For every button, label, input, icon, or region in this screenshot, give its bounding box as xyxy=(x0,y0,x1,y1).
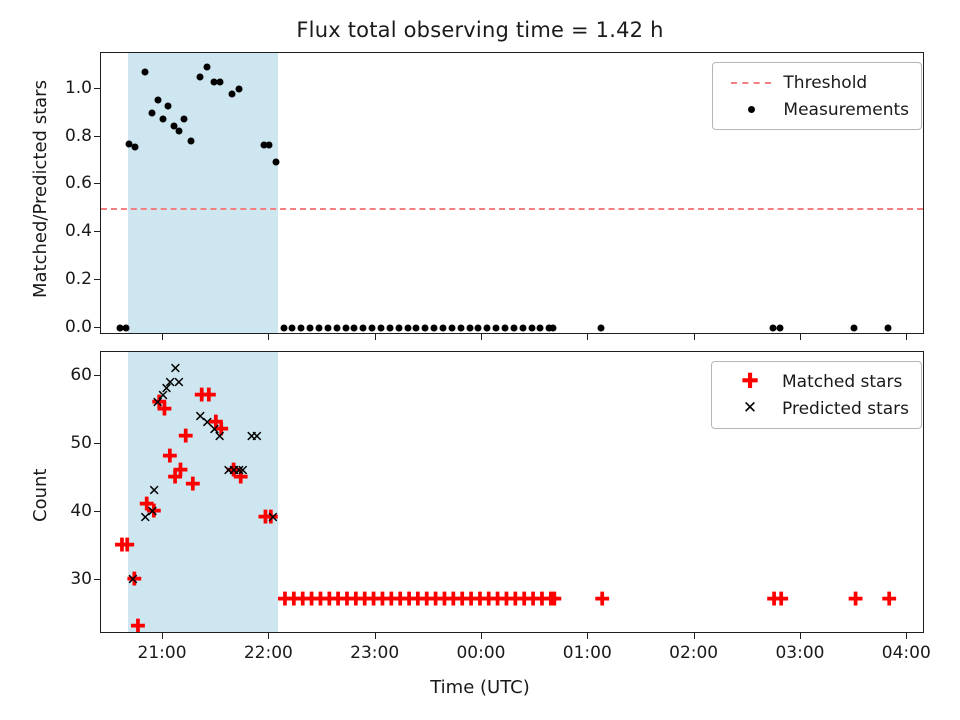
x-marker-icon: ✕ xyxy=(724,400,776,417)
measurement-point xyxy=(377,324,384,331)
measurement-point xyxy=(165,102,172,109)
measurement-point xyxy=(769,324,776,331)
x-axis-tick-label: 00:00 xyxy=(436,643,526,663)
x-axis-tick-label: 01:00 xyxy=(542,643,632,663)
legend-label: Matched stars xyxy=(776,372,902,392)
x-axis-tick-label: 21:00 xyxy=(117,643,207,663)
matched-star-point: ✚ xyxy=(773,594,786,607)
x-axis-tick-mark xyxy=(800,633,801,639)
measurement-point xyxy=(229,90,236,97)
x-axis-tick-mark xyxy=(587,334,588,340)
x-axis-tick-mark xyxy=(800,334,801,340)
matched-star-point: ✚ xyxy=(119,539,132,552)
measurement-point xyxy=(484,324,491,331)
measurement-point xyxy=(280,324,287,331)
y-axis-tick-mark xyxy=(94,88,100,89)
y-axis-tick-mark xyxy=(94,443,100,444)
predicted-star-point: ✕ xyxy=(266,512,279,525)
measurement-point xyxy=(266,142,273,149)
x-axis-tick-mark xyxy=(268,334,269,340)
measurement-point xyxy=(413,324,420,331)
measurement-point xyxy=(851,324,858,331)
dot-icon xyxy=(725,106,777,113)
measurement-point xyxy=(315,324,322,331)
measurement-point xyxy=(188,138,195,145)
legend-entry: Measurements xyxy=(725,96,909,123)
measurement-point xyxy=(160,115,167,122)
predicted-star-point: ✕ xyxy=(213,430,226,443)
x-axis-tick-mark xyxy=(481,334,482,340)
measurement-point xyxy=(549,324,556,331)
predicted-star-point: ✕ xyxy=(250,430,263,443)
predicted-star-point: ✕ xyxy=(126,573,139,586)
x-axis-tick-mark xyxy=(694,633,695,639)
legend-entry: ✕Predicted stars xyxy=(724,395,909,422)
measurement-point xyxy=(884,324,891,331)
x-axis-tick-mark xyxy=(481,633,482,639)
measurement-point xyxy=(175,127,182,134)
x-axis-tick-label: 22:00 xyxy=(223,643,313,663)
bottom-panel-ylabel: Count xyxy=(30,469,51,522)
legend-label: Measurements xyxy=(777,100,909,120)
measurement-point xyxy=(386,324,393,331)
measurement-point xyxy=(395,324,402,331)
x-axis-tick-mark xyxy=(375,334,376,340)
legend-label: Threshold xyxy=(777,73,867,93)
legend-entry: Threshold xyxy=(725,69,909,96)
y-axis-tick-label: 0.0 xyxy=(34,317,92,337)
y-axis-tick-mark xyxy=(94,579,100,580)
x-axis-tick-label: 04:00 xyxy=(861,643,951,663)
predicted-star-point: ✕ xyxy=(236,464,249,477)
measurement-point xyxy=(307,324,314,331)
x-axis-tick-mark xyxy=(694,334,695,340)
matched-star-point: ✚ xyxy=(172,464,185,477)
matched-star-point: ✚ xyxy=(594,594,607,607)
measurement-point xyxy=(440,324,447,331)
measurement-point xyxy=(502,324,509,331)
measurement-point xyxy=(342,324,349,331)
y-axis-tick-mark xyxy=(94,511,100,512)
measurement-point xyxy=(273,158,280,165)
measurement-point xyxy=(466,324,473,331)
measurement-point xyxy=(537,324,544,331)
measurement-point xyxy=(154,96,161,103)
predicted-star-point: ✕ xyxy=(148,485,161,498)
bottom-panel-legend: ✚Matched stars✕Predicted stars xyxy=(711,361,922,429)
x-axis-tick-label: 03:00 xyxy=(755,643,845,663)
measurement-point xyxy=(475,324,482,331)
y-axis-tick-mark xyxy=(94,136,100,137)
y-axis-tick-mark xyxy=(94,375,100,376)
measurement-point xyxy=(404,324,411,331)
measurement-point xyxy=(149,109,156,116)
measurement-point xyxy=(597,324,604,331)
y-axis-tick-label: 50 xyxy=(34,433,92,453)
x-axis-tick-mark xyxy=(162,334,163,340)
matched-star-point: ✚ xyxy=(185,478,198,491)
measurement-point xyxy=(493,324,500,331)
x-axis-tick-mark xyxy=(268,633,269,639)
measurement-point xyxy=(197,73,204,80)
top-panel-legend: ThresholdMeasurements xyxy=(712,62,922,130)
measurement-point xyxy=(422,324,429,331)
matched-star-point: ✚ xyxy=(848,594,861,607)
predicted-star-point: ✕ xyxy=(146,505,159,518)
measurement-point xyxy=(204,64,211,71)
matched-star-point: ✚ xyxy=(201,390,214,403)
y-axis-tick-mark xyxy=(94,183,100,184)
matched-star-point: ✚ xyxy=(881,594,894,607)
matched-star-point: ✚ xyxy=(130,621,143,633)
top-panel-ylabel: Matched/Predicted stars xyxy=(30,80,51,298)
measurement-point xyxy=(236,85,243,92)
plus-marker-icon: ✚ xyxy=(724,371,776,392)
measurement-point xyxy=(181,115,188,122)
x-axis-tick-mark xyxy=(906,633,907,639)
y-axis-tick-mark xyxy=(94,327,100,328)
threshold-dash-icon xyxy=(725,82,777,84)
measurement-point xyxy=(457,324,464,331)
measurement-point xyxy=(360,324,367,331)
legend-label: Predicted stars xyxy=(776,399,909,419)
measurement-point xyxy=(369,324,376,331)
matched-star-point: ✚ xyxy=(178,430,191,443)
measurement-point xyxy=(776,324,783,331)
measurement-point xyxy=(528,324,535,331)
measurement-point xyxy=(519,324,526,331)
figure-canvas: Flux total observing time = 1.42 h 0.00.… xyxy=(0,0,960,720)
measurement-point xyxy=(448,324,455,331)
measurement-point xyxy=(289,324,296,331)
y-axis-tick-label: 60 xyxy=(34,365,92,385)
y-axis-tick-label: 30 xyxy=(34,569,92,589)
measurement-point xyxy=(216,78,223,85)
x-axis-label: Time (UTC) xyxy=(0,677,960,698)
observing-window-band xyxy=(128,53,279,333)
predicted-star-point: ✕ xyxy=(172,376,185,389)
x-axis-tick-label: 23:00 xyxy=(330,643,420,663)
measurement-point xyxy=(142,69,149,76)
measurement-point xyxy=(298,324,305,331)
measurement-point xyxy=(351,324,358,331)
x-axis-tick-label: 02:00 xyxy=(649,643,739,663)
measurement-point xyxy=(131,144,138,151)
x-axis-tick-mark xyxy=(162,633,163,639)
threshold-line xyxy=(101,208,923,210)
measurement-point xyxy=(431,324,438,331)
x-axis-tick-mark xyxy=(587,633,588,639)
measurement-point xyxy=(122,324,129,331)
measurement-point xyxy=(510,324,517,331)
measurement-point xyxy=(324,324,331,331)
x-axis-tick-mark xyxy=(375,633,376,639)
measurement-point xyxy=(333,324,340,331)
x-axis-tick-mark xyxy=(906,334,907,340)
matched-star-point: ✚ xyxy=(546,594,559,607)
y-axis-tick-mark xyxy=(94,231,100,232)
y-axis-tick-mark xyxy=(94,279,100,280)
figure-title: Flux total observing time = 1.42 h xyxy=(0,18,960,42)
legend-entry: ✚Matched stars xyxy=(724,368,909,395)
